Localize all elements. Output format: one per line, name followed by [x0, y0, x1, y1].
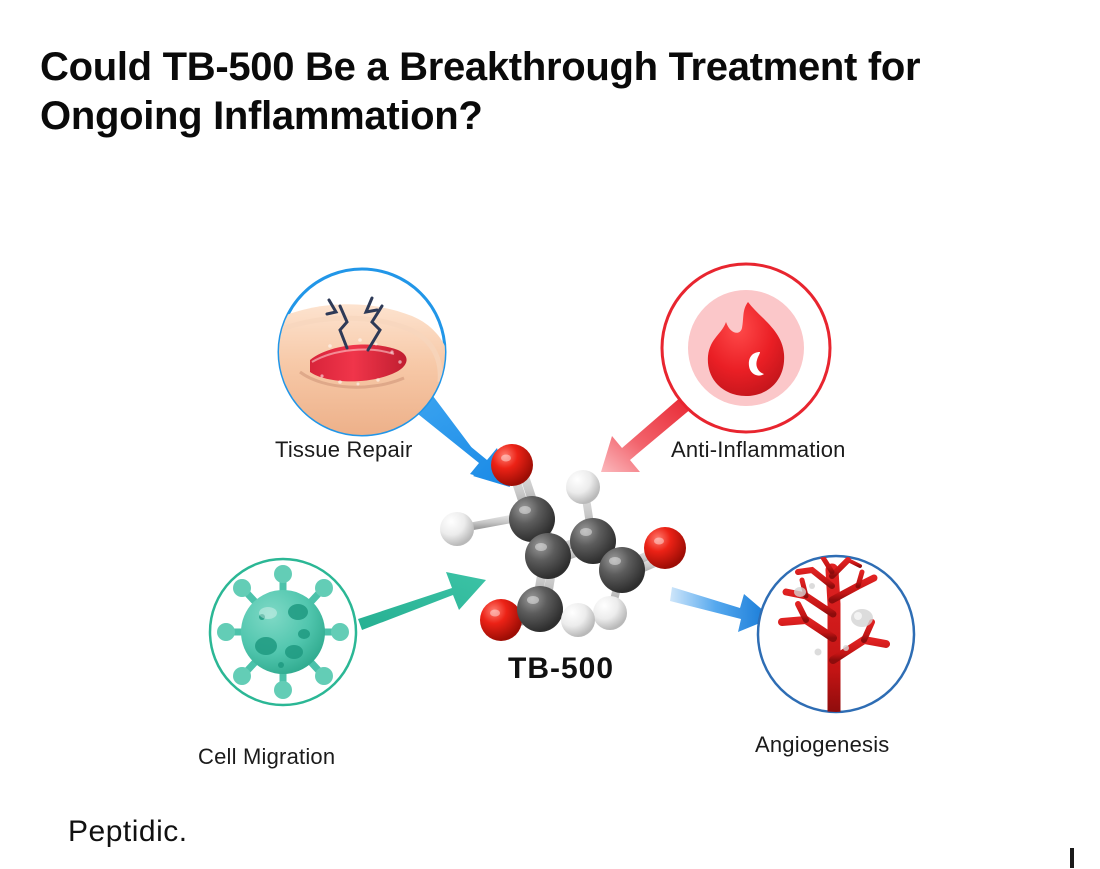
cell-receptor-icon [217, 565, 349, 699]
hydrogen-atom [593, 596, 627, 630]
carbon-atom [599, 547, 645, 593]
infographic-page: Could TB-500 Be a Breakthrough Treatment… [0, 0, 1100, 869]
hydrogen-atom [566, 470, 600, 504]
molecule-label: TB-500 [508, 652, 614, 686]
hydrogen-atom [440, 512, 474, 546]
oxygen-atom [480, 599, 522, 641]
node-anti-inflammation[interactable] [662, 264, 830, 432]
label-angiogenesis: Angiogenesis [755, 732, 890, 758]
node-cell-migration[interactable] [210, 559, 356, 705]
oxygen-atom [644, 527, 686, 569]
arrow-cell-migration-to-center [358, 572, 486, 630]
arrow-center-to-angiogenesis [670, 587, 772, 632]
carbon-atom [517, 586, 563, 632]
brand-wordmark: Peptidic. [68, 815, 188, 849]
label-cell-migration: Cell Migration [198, 744, 335, 770]
label-anti-inflammation: Anti-Inflammation [671, 437, 846, 463]
diagram-stage: t [0, 0, 1100, 869]
corner-cursor-mark [1070, 848, 1074, 868]
carbon-atom [525, 533, 571, 579]
node-angiogenesis[interactable] [758, 556, 914, 714]
hydrogen-atom [561, 603, 595, 637]
label-tissue-repair: Tissue Repair [275, 437, 413, 463]
oxygen-atom [491, 444, 533, 486]
